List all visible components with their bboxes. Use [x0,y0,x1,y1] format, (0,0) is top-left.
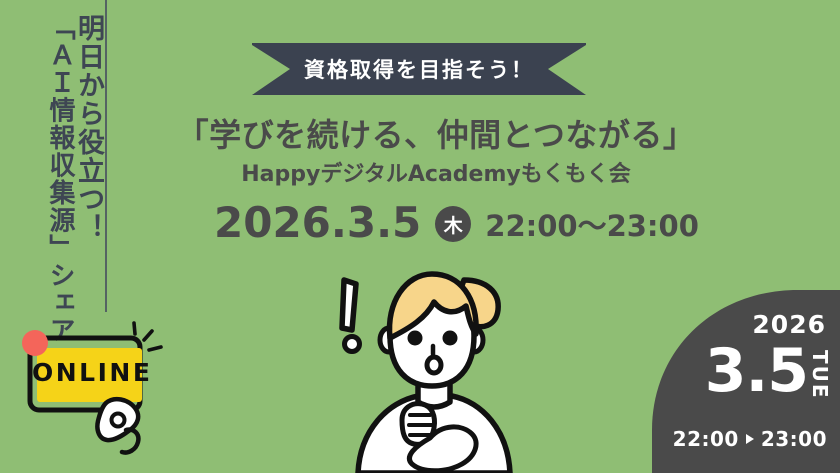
date-panel-year: 2026 [752,312,826,337]
event-date-row: 2026.3.5 木 22:00〜23:00 [214,200,699,245]
exclamation-mark-icon [342,280,360,352]
date-panel-day: 3.5 [705,344,808,399]
ribbon-banner-label: 資格取得を目指そう！ [252,43,586,95]
person-eye-right [443,331,458,346]
date-panel-start-time: 22:00 [673,427,739,451]
online-badge [10,320,182,460]
event-date-text: 2026.3.5 [214,202,421,244]
weekday-badge: 木 [435,206,471,242]
date-panel-time: 22:00 23:00 [673,427,827,451]
online-badge-label: ONLINE [32,358,152,387]
event-poster: 明日から役立つ！ 「ＡＩ情報収集源」シェア 資格取得を目指そう！ 「学びを続ける… [0,0,840,473]
event-time-text: 22:00〜23:00 [485,203,699,245]
red-dot-icon [22,330,48,356]
page-subtitle: HappyデジタルAcademyもくもく会 [0,156,840,188]
page-title: 「学びを続ける、仲間とつながる」 [0,110,840,156]
date-panel: 2026 3.5 TUE 22:00 23:00 [652,290,840,473]
surprised-person-illustration [330,268,535,473]
hand-cursor-icon [97,399,138,452]
person-mouth [427,357,441,373]
date-panel-weekday: TUE [810,350,830,400]
play-triangle-icon [746,434,754,444]
date-panel-day-group: 3.5 TUE [705,344,830,400]
date-panel-end-time: 23:00 [761,427,827,451]
person-eye-left [408,331,423,346]
